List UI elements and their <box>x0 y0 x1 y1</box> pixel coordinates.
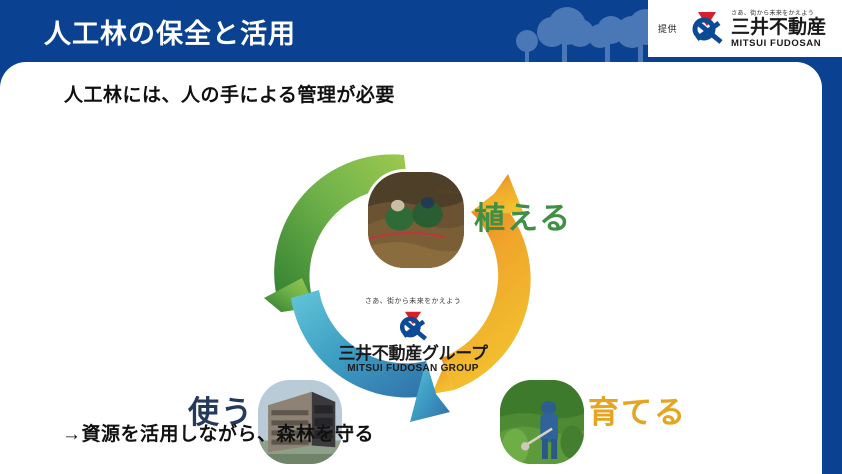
sponsor-name-block: さあ、街から未来をかえよう 三井不動産 MITSUI FUDOSAN <box>731 8 826 49</box>
mitsui-ampersand-icon <box>392 309 434 345</box>
center-logo-name-jp: 三井不動産グループ <box>338 345 487 363</box>
center-logo-name-en: MITSUI FUDOSAN GROUP <box>347 363 479 374</box>
sponsor-name-jp: 三井不動産 <box>731 18 826 37</box>
sponsor-tagline: さあ、街から未来をかえよう <box>731 8 826 17</box>
content-panel: 人工林には、人の手による管理が必要 <box>0 62 822 474</box>
center-logo-tagline: さあ、街から未来をかえよう <box>365 296 461 306</box>
mitsui-ampersand-icon <box>685 9 729 49</box>
right-edge-strip <box>822 62 842 474</box>
forest-thinning-photo <box>500 380 584 464</box>
cycle-label-plant: 植える <box>474 193 572 238</box>
content-footnote: →資源を活用しながら、森林を守る <box>62 419 374 446</box>
sponsor-logo-box: 提供 さあ、街から未来をかえよう 三井不動産 MITSUI FUDOSAN <box>648 0 842 57</box>
sponsor-label: 提供 <box>658 22 677 35</box>
cycle-label-grow: 育てる <box>588 387 687 432</box>
tree-planting-photo <box>368 172 464 268</box>
center-group-logo: さあ、街から未来をかえよう 三井不動産グループ MITSUI FUDOSAN G… <box>343 296 483 392</box>
sponsor-name-en: MITSUI FUDOSAN <box>731 38 826 49</box>
page-title: 人工林の保全と活用 <box>44 12 296 51</box>
slide-root: 人工林の保全と活用 提供 さあ、街から未来をかえよう 三井不動産 MITSUI … <box>0 0 842 474</box>
tree-silhouettes-icon <box>505 0 665 62</box>
